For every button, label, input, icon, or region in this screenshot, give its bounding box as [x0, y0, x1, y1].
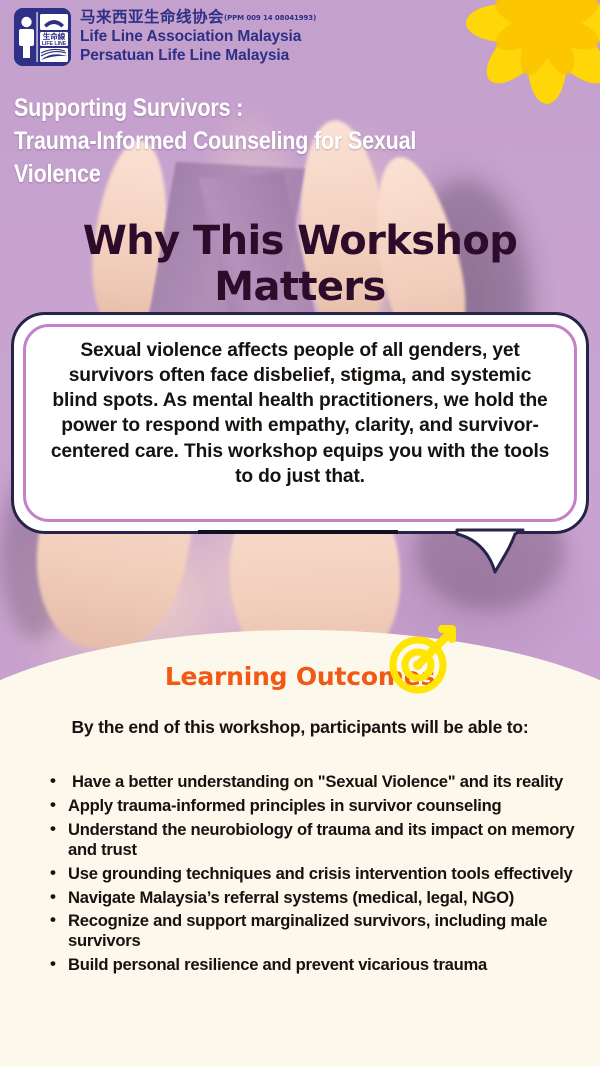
speech-bubble-tail	[455, 528, 525, 576]
svg-text:生命線: 生命線	[43, 31, 66, 41]
brand-name-chinese: 马来西亚生命线协会(PPM 009 14 08041993)	[80, 9, 316, 27]
brand-header: 生命線 LIFE LINE 马来西亚生命线协会(PPM 009 14 08041…	[14, 8, 316, 66]
svg-text:LIFE LINE: LIFE LINE	[42, 41, 67, 47]
target-dart-icon	[382, 617, 464, 699]
bubble-baseline-accent	[198, 530, 398, 534]
lifeline-logo-icon: 生命線 LIFE LINE	[14, 8, 71, 66]
list-item: Understand the neurobiology of trauma an…	[56, 820, 600, 860]
outcomes-list: Have a better understanding on "Sexual V…	[34, 772, 600, 979]
list-item: Apply trauma-informed principles in surv…	[56, 796, 600, 816]
list-item: Build personal resilience and prevent vi…	[56, 955, 600, 975]
subtitle-line-1: Supporting Survivors :	[14, 92, 496, 125]
page-title: Why This Workshop Matters	[0, 218, 600, 310]
brand-name-chinese-text: 马来西亚生命线协会	[80, 8, 224, 26]
speech-bubble: Sexual violence affects people of all ge…	[11, 312, 589, 534]
list-item: Use grounding techniques and crisis inte…	[56, 864, 600, 884]
section-title-learning-outcomes: Learning Outcomes	[0, 662, 600, 691]
registration-number: (PPM 009 14 08041993)	[224, 14, 316, 22]
speech-bubble-text: Sexual violence affects people of all ge…	[45, 338, 555, 489]
brand-name-malay: Persatuan Life Line Malaysia	[80, 46, 316, 65]
workshop-subtitle: Supporting Survivors : Trauma-Informed C…	[14, 92, 496, 191]
brand-name-english: Life Line Association Malaysia	[80, 27, 316, 46]
outcomes-intro: By the end of this workshop, participant…	[0, 717, 600, 738]
list-item: Recognize and support marginalized survi…	[56, 911, 600, 951]
list-item: Navigate Malaysia’s referral systems (me…	[56, 888, 600, 908]
list-item: Have a better understanding on "Sexual V…	[56, 772, 600, 792]
subtitle-line-2: Trauma-Informed Counseling for Sexual Vi…	[14, 125, 496, 191]
poster: 生命線 LIFE LINE 马来西亚生命线协会(PPM 009 14 08041…	[0, 0, 600, 1067]
